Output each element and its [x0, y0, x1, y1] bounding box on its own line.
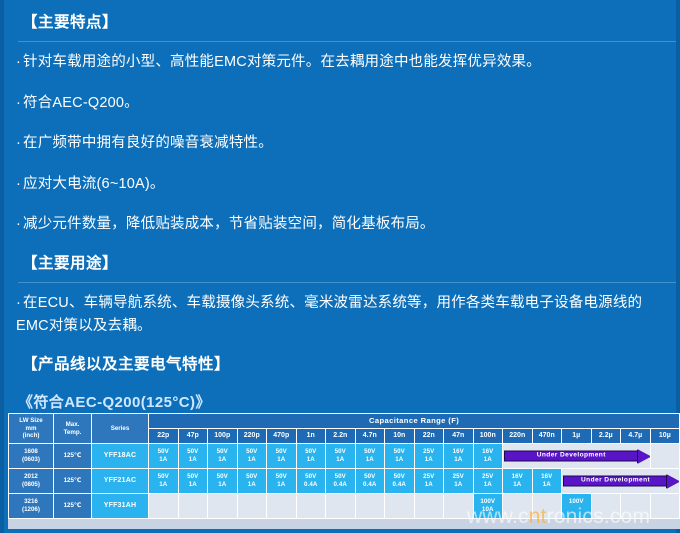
bullet-feature-1: ·针对车载用途的小型、高性能EMC对策元件。在去耦用途中也能发挥优异效果。 — [8, 42, 680, 82]
cell-empty — [444, 494, 474, 519]
header-cap-220n: 220n — [503, 429, 533, 444]
cell-rating: 50V1A — [178, 469, 208, 494]
bullet-application-1: ·在ECU、车辆导航系统、车载摄像头系统、毫米波雷达系统等，用作各类车载电子设备… — [8, 283, 680, 346]
cell-voltage: 16V — [541, 473, 552, 480]
bullet-feature-3: ·在广频带中拥有良好的噪音衰减特性。 — [8, 123, 680, 163]
cell-size: 3216(1206) — [9, 494, 54, 519]
cell-rating: 16V1A — [503, 469, 533, 494]
bullet-feature-2: ·符合AEC-Q200。 — [8, 83, 680, 123]
cell-empty — [326, 494, 356, 519]
cell-current: 1A — [415, 456, 444, 464]
cell-voltage: 16V — [482, 448, 493, 455]
cell-current: 1A — [208, 481, 237, 489]
bullet-feature-3-text: 在广频带中拥有良好的噪音衰减特性。 — [23, 135, 273, 151]
cell-current: 1A — [444, 481, 473, 489]
cell-current: 1A — [503, 481, 532, 489]
cell-voltage: 100V — [569, 498, 584, 505]
cell-rating: 100V — [562, 494, 592, 519]
table-row: 1608(0603)125℃YFF18AC50V1A50V1A50V1A50V1… — [9, 444, 680, 469]
cell-rating: 50V1A — [237, 444, 267, 469]
bullet-feature-4: ·应对大电流(6~10A)。 — [8, 164, 680, 204]
cell-empty — [237, 494, 267, 519]
cell-rating: 50V1A — [267, 469, 297, 494]
header-cap-10n: 10n — [385, 429, 415, 444]
spec-table: LW Sizemm(inch)Max.Temp.SeriesCapacitanc… — [8, 413, 680, 519]
cell-empty — [532, 494, 562, 519]
cell-current: 0.4A — [297, 481, 326, 489]
header-cap-100n: 100n — [473, 429, 503, 444]
cell-voltage: 25V — [423, 473, 434, 480]
cell-current: 1A — [179, 456, 208, 464]
cell-current: 0.4A — [326, 481, 355, 489]
header-cap-4.7n: 4.7n — [355, 429, 385, 444]
cell-empty — [385, 494, 415, 519]
cell-voltage: 50V — [187, 448, 198, 455]
cell-current: 1A — [208, 456, 237, 464]
cell-voltage: 50V — [217, 448, 228, 455]
cell-current: 1A — [267, 481, 296, 489]
cell-empty — [355, 494, 385, 519]
cell-rating: 50V1A — [149, 469, 179, 494]
cell-voltage: 50V — [276, 473, 287, 480]
cell-current: 1A — [238, 481, 267, 489]
cell-current: 1A — [297, 456, 326, 464]
cell-current: 1A — [444, 456, 473, 464]
cell-voltage: 50V — [246, 448, 257, 455]
cell-voltage: 50V — [187, 473, 198, 480]
cell-current — [562, 506, 591, 514]
header-capacitance-range: Capacitance Range (F) — [149, 414, 680, 429]
bullet-feature-5: ·减少元件数量，降低贴装成本，节省贴装空间，简化基板布局。 — [8, 204, 680, 244]
cell-rating: 25V1A — [473, 469, 503, 494]
cell-current: 1A — [474, 456, 503, 464]
cell-current: 1A — [326, 456, 355, 464]
table-header-row-top: LW Sizemm(inch)Max.Temp.SeriesCapacitanc… — [9, 414, 680, 429]
cell-voltage: 50V — [158, 448, 169, 455]
bullet-marker-icon: · — [16, 95, 21, 111]
bullet-feature-2-text: 符合AEC-Q200。 — [23, 95, 139, 111]
cell-max-temp: 125℃ — [54, 469, 92, 494]
cell-voltage: 50V — [364, 473, 375, 480]
cell-voltage: 50V — [364, 448, 375, 455]
bullet-marker-icon: · — [16, 54, 21, 70]
cell-rating: 50V1A — [208, 469, 238, 494]
cell-current: 1A — [474, 481, 503, 489]
spec-table-container: LW Sizemm(inch)Max.Temp.SeriesCapacitanc… — [8, 413, 680, 529]
cell-rating: 50V1A — [385, 444, 415, 469]
header-cap-4.7µ: 4.7µ — [621, 429, 651, 444]
cell-rating: 50V0.4A — [296, 469, 326, 494]
bullet-marker-icon: · — [16, 176, 21, 192]
cell-voltage: 25V — [482, 473, 493, 480]
under-development-label: Under Development — [581, 477, 650, 485]
cell-max-temp: 125℃ — [54, 444, 92, 469]
cell-current: 1A — [179, 481, 208, 489]
header-cap-470p: 470p — [267, 429, 297, 444]
cell-size: 1608(0603) — [9, 444, 54, 469]
slide-root: 【主要特点】 ·针对车载用途的小型、高性能EMC对策元件。在去耦用途中也能发挥优… — [0, 0, 680, 533]
header-cap-100p: 100p — [208, 429, 238, 444]
cell-rating: 16V1A — [532, 469, 562, 494]
header-cap-1µ: 1µ — [562, 429, 592, 444]
cell-current: 1A — [385, 456, 414, 464]
cell-rating: 25V1A — [414, 469, 444, 494]
under-development-banner: Under Development — [503, 444, 651, 469]
section-heading-applications: 【主要用途】 — [8, 245, 680, 282]
header-cap-22n: 22n — [414, 429, 444, 444]
bullet-feature-1-text: 针对车载用途的小型、高性能EMC对策元件。在去耦用途中也能发挥优异效果。 — [23, 54, 541, 70]
cell-rating: 50V1A — [237, 469, 267, 494]
header-cap-1n: 1n — [296, 429, 326, 444]
header-cap-2.2µ: 2.2µ — [591, 429, 621, 444]
cell-empty — [208, 494, 238, 519]
cell-voltage: 100V — [480, 498, 495, 505]
cell-rating: 50V0.4A — [326, 469, 356, 494]
cell-voltage: 16V — [453, 448, 464, 455]
cell-current: 1A — [356, 456, 385, 464]
cell-current: 1A — [238, 456, 267, 464]
cell-empty — [149, 494, 179, 519]
cell-current: 1A — [149, 456, 178, 464]
cell-current: 1A — [267, 456, 296, 464]
cell-rating: 50V0.4A — [355, 469, 385, 494]
header-cap-470n: 470n — [532, 429, 562, 444]
header-series: Series — [92, 414, 149, 444]
cell-empty — [650, 494, 680, 519]
bullet-application-1-text: 在ECU、车辆导航系统、车载摄像头系统、毫米波雷达系统等，用作各类车载电子设备电… — [16, 295, 642, 333]
cell-voltage: 50V — [246, 473, 257, 480]
bullet-marker-icon: · — [16, 295, 21, 311]
header-lw-size-l2: mm — [9, 425, 53, 433]
cell-series: YFF31AH — [92, 494, 149, 519]
cell-voltage: 16V — [512, 473, 523, 480]
cell-voltage: 50V — [217, 473, 228, 480]
cell-current: 1A — [149, 481, 178, 489]
header-cap-22p: 22p — [149, 429, 179, 444]
section-heading-features: 【主要特点】 — [8, 4, 680, 41]
cell-voltage: 50V — [305, 448, 316, 455]
header-lw-size: LW Sizemm(inch) — [9, 414, 54, 444]
cell-empty — [591, 494, 621, 519]
header-cap-220p: 220p — [237, 429, 267, 444]
cell-current: 0.4A — [356, 481, 385, 489]
cell-voltage: 25V — [453, 473, 464, 480]
bullet-marker-icon: · — [16, 135, 21, 151]
cell-voltage: 50V — [394, 448, 405, 455]
cell-max-temp: 125℃ — [54, 494, 92, 519]
cell-voltage: 25V — [423, 448, 434, 455]
cell-empty — [621, 494, 651, 519]
header-cap-47p: 47p — [178, 429, 208, 444]
cell-voltage: 50V — [276, 448, 287, 455]
cell-voltage: 50V — [158, 473, 169, 480]
header-lw-size-l1: LW Size — [9, 417, 53, 425]
header-cap-47n: 47n — [444, 429, 474, 444]
header-lw-size-l3: (inch) — [9, 432, 53, 440]
header-cap-10µ: 10µ — [650, 429, 680, 444]
cell-rating: 16V1A — [473, 444, 503, 469]
bullet-feature-5-text: 减少元件数量，降低贴装成本，节省贴装空间，简化基板布局。 — [23, 216, 435, 232]
cell-rating: 50V1A — [355, 444, 385, 469]
cell-current: 10A — [474, 506, 503, 514]
text-content: 【主要特点】 ·针对车载用途的小型、高性能EMC对策元件。在去耦用途中也能发挥优… — [8, 4, 680, 418]
cell-rating: 50V1A — [149, 444, 179, 469]
table-row: 2012(0805)125℃YFF21AC50V1A50V1A50V1A50V1… — [9, 469, 680, 494]
cell-empty — [296, 494, 326, 519]
cell-voltage: 50V — [335, 473, 346, 480]
cell-rating: 50V1A — [326, 444, 356, 469]
cell-voltage: 50V — [394, 473, 405, 480]
cell-rating: 50V1A — [178, 444, 208, 469]
cell-rating: 100V10A — [473, 494, 503, 519]
table-row: 3216(1206)125℃YFF31AH100V10A100V — [9, 494, 680, 519]
cell-voltage: 50V — [305, 473, 316, 480]
bullet-feature-4-text: 应对大电流(6~10A)。 — [23, 176, 165, 192]
cell-size: 2012(0805) — [9, 469, 54, 494]
bullet-marker-icon: · — [16, 216, 21, 232]
under-development-label: Under Development — [537, 452, 606, 460]
cell-rating: 50V1A — [267, 444, 297, 469]
cell-current: 1A — [533, 481, 562, 489]
cell-rating: 25V1A — [414, 444, 444, 469]
cell-rating: 50V1A — [296, 444, 326, 469]
cell-current: 0.4A — [385, 481, 414, 489]
cell-rating: 25V1A — [444, 469, 474, 494]
cell-rating: 50V1A — [208, 444, 238, 469]
cell-empty — [267, 494, 297, 519]
section-heading-lineup: 【产品线以及主要电气特性】 — [8, 346, 680, 383]
cell-empty — [178, 494, 208, 519]
under-development-arrow-icon: Under Development — [504, 449, 650, 464]
header-max-temp: Max.Temp. — [54, 414, 92, 444]
header-cap-2.2n: 2.2n — [326, 429, 356, 444]
cell-current: 1A — [415, 481, 444, 489]
under-development-arrow-icon: Under Development — [563, 474, 680, 489]
cell-empty — [650, 444, 680, 469]
cell-voltage: 50V — [335, 448, 346, 455]
cell-series: YFF18AC — [92, 444, 149, 469]
cell-series: YFF21AC — [92, 469, 149, 494]
cell-empty — [414, 494, 444, 519]
cell-rating: 50V0.4A — [385, 469, 415, 494]
cell-rating: 16V1A — [444, 444, 474, 469]
cell-empty — [503, 494, 533, 519]
under-development-banner: Under Development — [562, 469, 680, 494]
